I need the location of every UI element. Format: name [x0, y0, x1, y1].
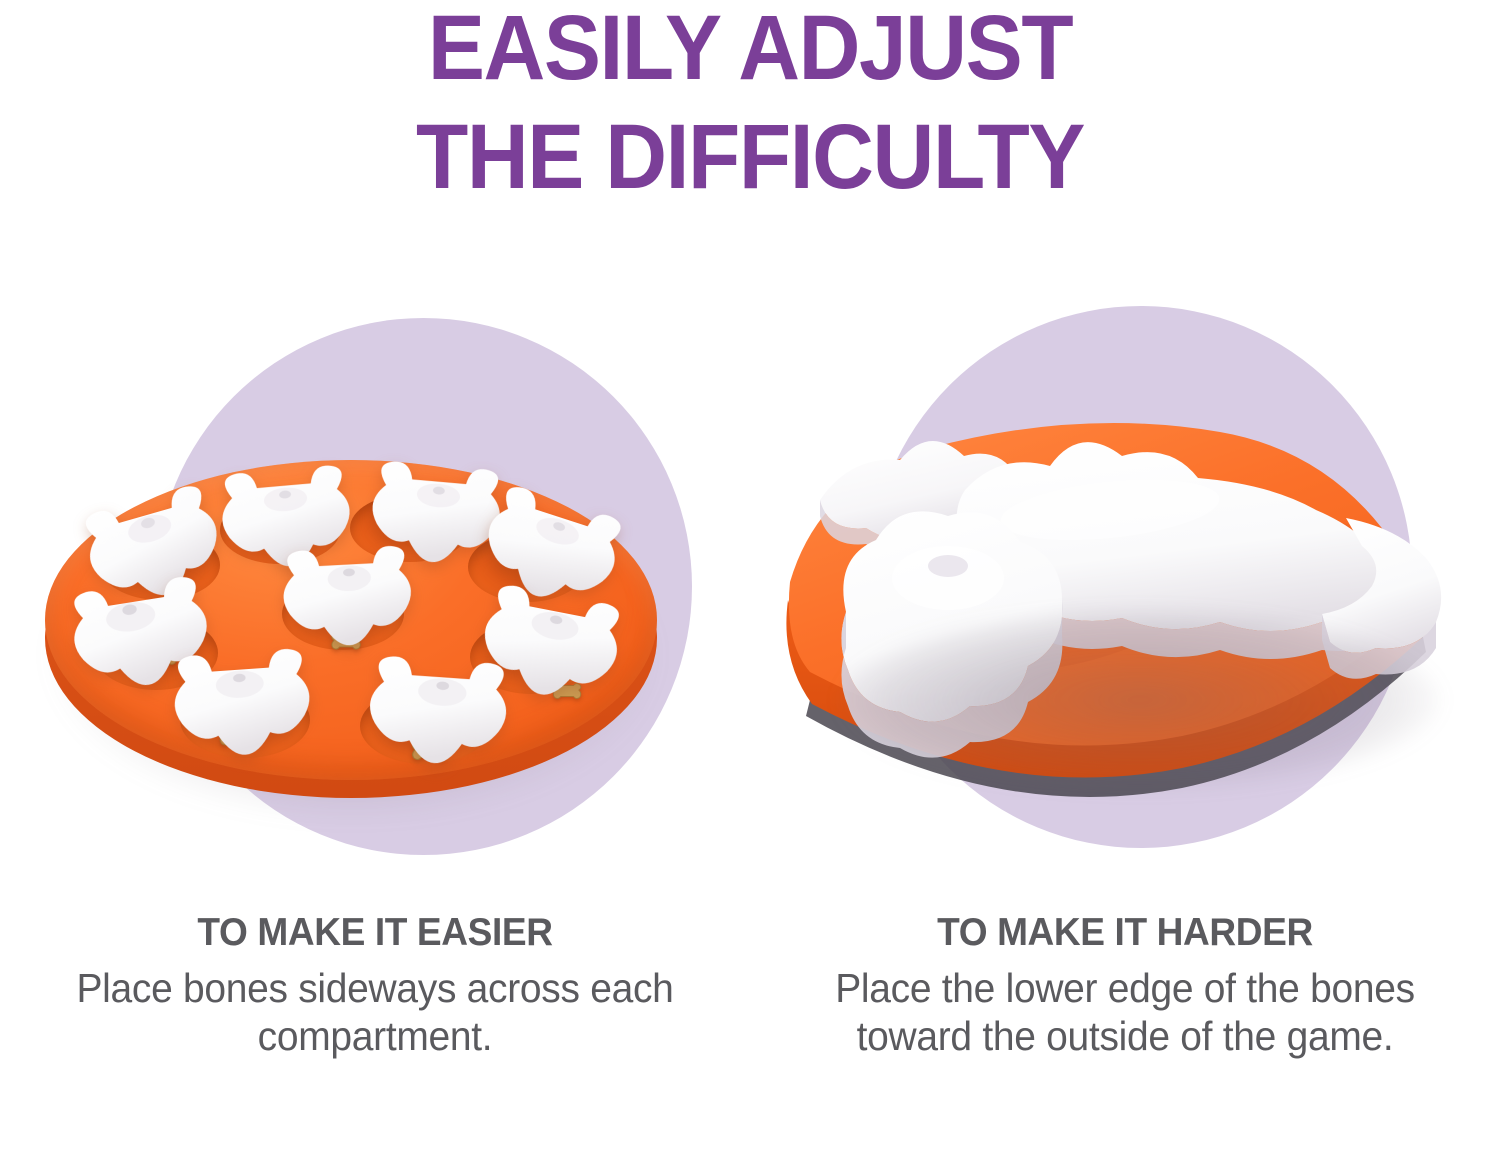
bone-icon [342, 648, 534, 785]
caption-easier-body: Place bones sideways across each compart… [19, 965, 732, 1061]
product-image-easier [0, 300, 750, 870]
caption-easier: TO MAKE IT EASIER Place bones sideways a… [0, 912, 750, 1061]
page-title: EASILY ADJUST THE DIFFICULTY [53, 0, 1448, 211]
captions-row: TO MAKE IT EASIER Place bones sideways a… [0, 912, 1500, 1157]
caption-harder: TO MAKE IT HARDER Place the lower edge o… [750, 912, 1500, 1061]
caption-easier-title: TO MAKE IT EASIER [19, 912, 732, 953]
puzzle-closeup-angled [750, 360, 1500, 830]
panel-easier [0, 300, 750, 870]
closeup-drop-shadow [840, 610, 1440, 790]
headline-line-2: THE DIFFICULTY [53, 103, 1448, 212]
product-image-harder [750, 300, 1500, 870]
panels-row [0, 300, 1500, 870]
bone-cover [148, 640, 338, 776]
bone-icon [148, 640, 338, 776]
caption-harder-title: TO MAKE IT HARDER [769, 912, 1482, 953]
headline-line-1: EASILY ADJUST [53, 0, 1448, 103]
puzzle-disc-topdown [30, 450, 670, 830]
caption-harder-body: Place the lower edge of the bones toward… [769, 965, 1482, 1061]
panel-harder [750, 300, 1500, 870]
infographic-page: EASILY ADJUST THE DIFFICULTY [0, 0, 1500, 1157]
bone-cover [342, 648, 534, 785]
